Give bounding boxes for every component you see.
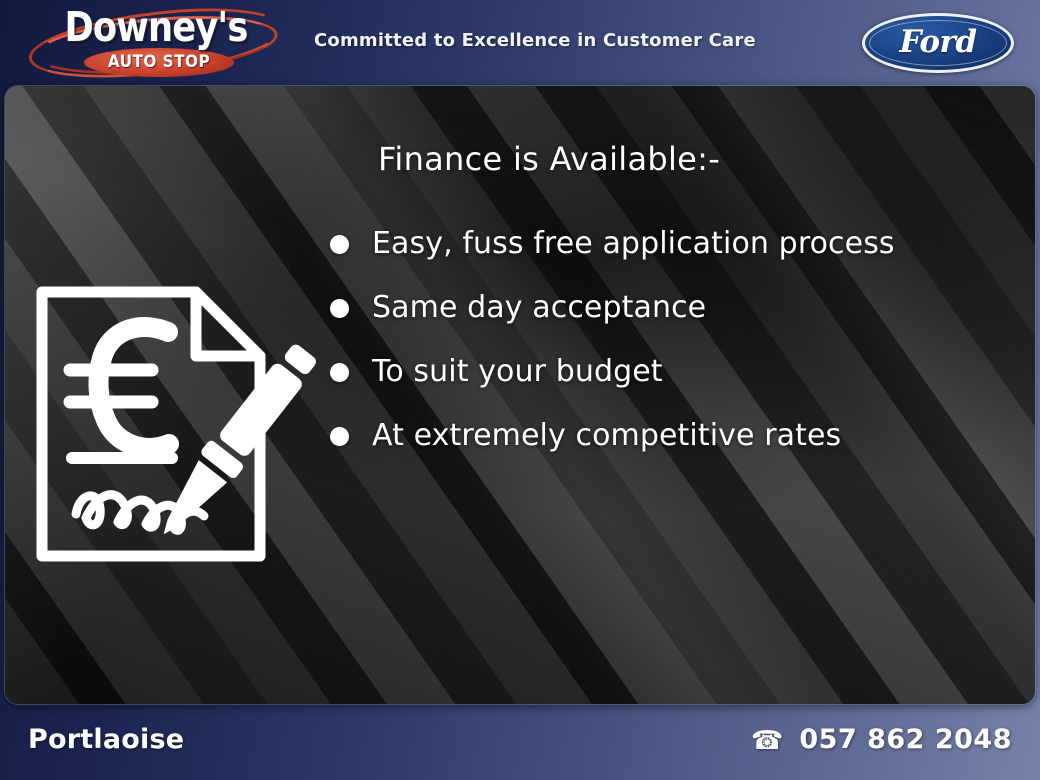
benefits-list: Easy, fuss free application process Same… [330, 224, 1020, 456]
location-label: Portlaoise [28, 724, 184, 755]
dealer-logo-name: Downey's [41, 4, 271, 50]
dealer-logo[interactable]: Downey's AUTO STOP [22, 2, 290, 84]
phone-number[interactable]: 057 862 2048 [799, 724, 1012, 755]
bullet-dot-icon [330, 299, 349, 318]
benefit-label: Same day acceptance [372, 289, 706, 327]
list-item: At extremely competitive rates [330, 416, 1020, 456]
page-title: Finance is Available:- [378, 140, 1020, 178]
euro-document-signature-pen-icon [28, 278, 318, 570]
list-item: Easy, fuss free application process [330, 224, 1020, 264]
finance-content: Finance is Available:- Easy, fuss free a… [330, 140, 1020, 480]
contact-phone[interactable]: ☎ 057 862 2048 [751, 724, 1012, 755]
bullet-dot-icon [330, 363, 349, 382]
ford-logo[interactable]: Ford [862, 13, 1014, 73]
finance-advert-poster: Downey's AUTO STOP Committed to Excellen… [0, 0, 1040, 780]
poster-footer: Portlaoise ☎ 057 862 2048 [0, 704, 1040, 780]
dealer-tagline: Committed to Excellence in Customer Care [314, 30, 756, 51]
list-item: Same day acceptance [330, 288, 1020, 328]
list-item: To suit your budget [330, 352, 1020, 392]
benefit-label: At extremely competitive rates [372, 417, 841, 455]
bullet-dot-icon [330, 235, 349, 254]
bullet-dot-icon [330, 427, 349, 446]
dealer-logo-subtitle: AUTO STOP [92, 53, 227, 72]
benefit-label: Easy, fuss free application process [372, 225, 895, 263]
ford-logo-text: Ford [862, 13, 1014, 73]
poster-header: Downey's AUTO STOP Committed to Excellen… [0, 0, 1040, 86]
benefit-label: To suit your budget [372, 353, 663, 391]
telephone-icon: ☎ [751, 725, 783, 755]
